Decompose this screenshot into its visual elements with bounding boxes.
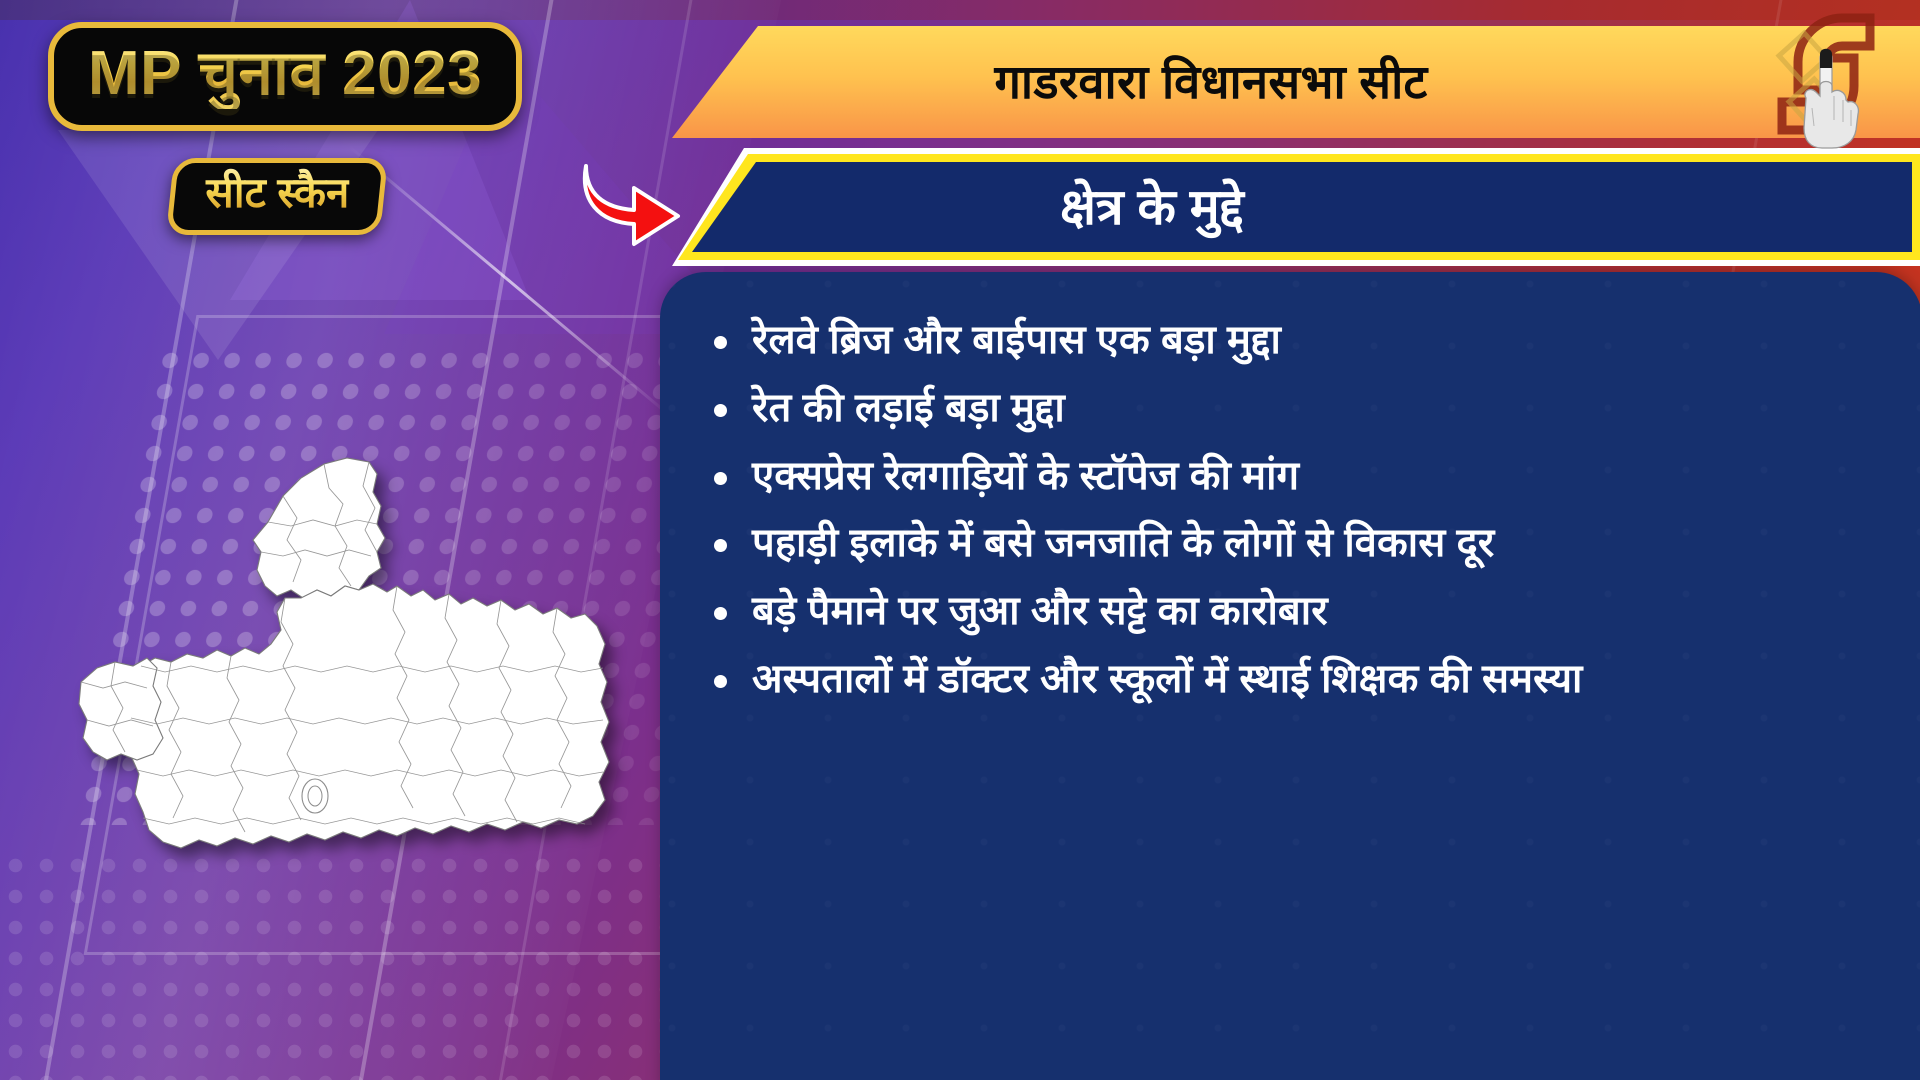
badge-sub-label: सीट स्कैन [205, 167, 349, 220]
list-item: बड़े पैमाने पर जुआ और सट्टे का कारोबार [706, 583, 1876, 640]
inked-voting-finger-icon [1786, 34, 1876, 149]
channel-badge-main: MP चुनाव 2023 [48, 22, 522, 131]
channel-badge-sub: सीट स्कैन [166, 158, 388, 235]
infographic-stage: MP चुनाव 2023 सीट स्कैन गाडरवारा विधानसभ… [0, 0, 1920, 1080]
badge-main-label: MP चुनाव 2023 [88, 38, 482, 109]
issues-panel: रेलवे ब्रिज और बाईपास एक बड़ा मुद्दा रेत… [660, 272, 1920, 1080]
section-heading-label: क्षेत्र के मुद्दे [1060, 176, 1544, 239]
list-item: पहाड़ी इलाके में बसे जनजाति के लोगों से … [706, 515, 1876, 572]
page-title: गाडरवारा विधानसभा सीट [994, 54, 1597, 110]
list-item: एक्सप्रेस रेलगाड़ियों के स्टॉपेज की मांग [706, 448, 1876, 505]
issues-list: रेलवे ब्रिज और बाईपास एक बड़ा मुद्दा रेत… [660, 272, 1920, 708]
red-curved-arrow-icon [578, 160, 688, 250]
section-heading-box: क्षेत्र के मुद्दे [672, 148, 1920, 266]
heading-frame-navy: क्षेत्र के मुद्दे [692, 162, 1912, 252]
header-banner: गाडरवारा विधानसभा सीट [672, 26, 1920, 138]
list-item: रेत की लड़ाई बड़ा मुद्दा [706, 380, 1876, 437]
list-item: रेलवे ब्रिज और बाईपास एक बड़ा मुद्दा [706, 312, 1876, 369]
madhya-pradesh-map [25, 400, 665, 900]
list-item: अस्पतालों में डॉक्टर और स्कूलों में स्था… [706, 651, 1876, 708]
